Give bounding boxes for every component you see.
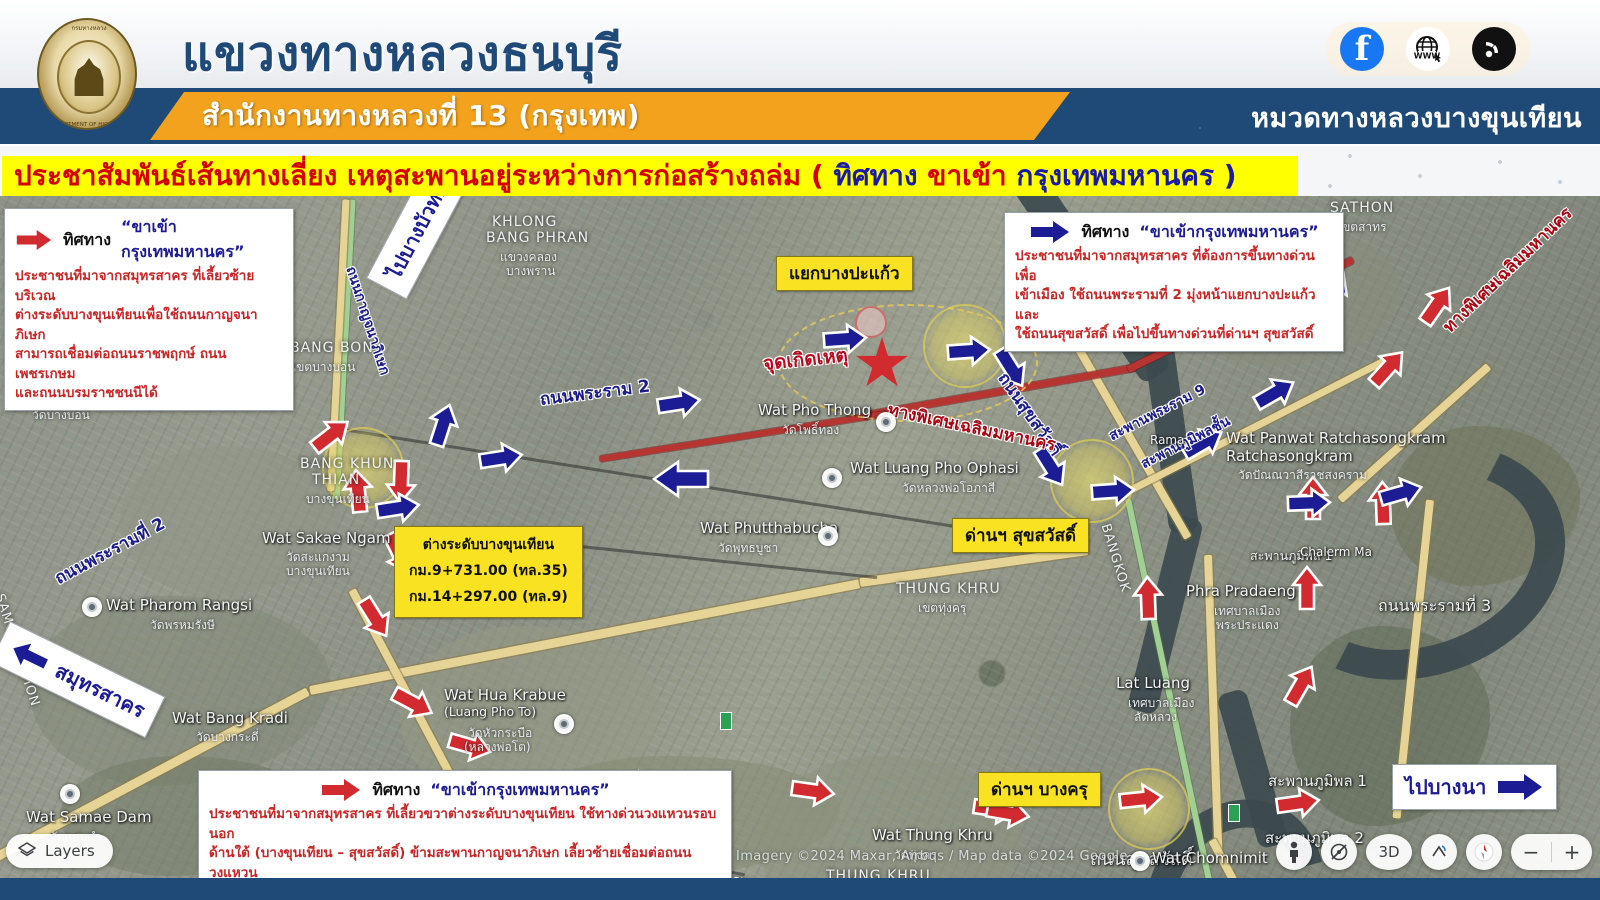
place-label-wat-luang-pho-ophasi: Wat Luang Pho Ophasi [850,459,1019,477]
announcement-part3: ขาเข้า [918,159,1017,192]
callout-tl-line-4: และถนนบรมราชชนนีได้ [15,384,283,404]
compass-icon[interactable] [1466,834,1502,870]
label-bangpakaew: แยกบางปะแก้ว [776,256,913,291]
blue-arrow-icon [5,635,53,678]
office-title: สำนักงานทางหลวงที่ 13 (กรุงเทพ) [202,94,640,138]
arrow-blue [1247,367,1304,419]
district-bang-bon: BANG BON [290,340,374,356]
zoom-out-button[interactable]: − [1511,840,1551,864]
announcement-part2: ทิศทาง [833,159,917,192]
place-label-wat-luang-pho-ophasi-th: วัดหลวงพ่อโอภาสี [902,479,995,498]
interchange-title: ต่างระดับบางขุนเทียน [409,533,568,559]
direction-banner-bangna-text: ไปบางนา [1405,771,1486,803]
poi-marker[interactable] [60,784,80,804]
callout-top-left: ทิศทาง “ขาเข้ากรุงเทพมหานคร” ประชาชนที่ม… [4,208,294,411]
arrow-blue-left-big [652,458,710,500]
callout-tr-quoted: “ขาเข้ากรุงเทพมหานคร” [1139,220,1318,245]
arrow-red [1116,780,1165,819]
layers-icon [18,842,36,860]
arrow-red [1130,574,1166,621]
district-khlong-bang-phran-th2: บางพราน [506,262,556,281]
footer-bar [0,878,1600,900]
arrow-blue [821,320,869,357]
callout-b-line-1: ประชาชนที่มาจากสมุทรสาคร ที่เลี้ยวขวาต่า… [209,805,721,844]
district-khlong-bang-phran: KHLONG [492,214,557,230]
district-khlong-bang-phran-th: แขวงคลอง [500,248,557,267]
arrow-blue [1285,485,1332,521]
route-cap-bangkok: BANGKOK [1098,522,1133,594]
callout-bottom: ทิศทาง “ขาเข้ากรุงเทพมหานคร” ประชาชนที่ม… [198,770,732,878]
poi-marker[interactable] [82,597,102,617]
direction-banner-bangbuathong-text: ไปบางบัวทอง [378,196,460,285]
expressway-chaloem-west [600,411,887,462]
arrow-red [1360,340,1416,397]
arrow-blue [1089,472,1137,509]
callout-tr-line-3: ใช้ถนนสุขสวัสดิ์ เพื่อไปขึ้นทางด่วนที่ด่… [1015,325,1333,345]
arrow-blue [420,398,467,452]
poi-marker[interactable] [818,526,838,546]
poi-marker[interactable] [822,468,842,488]
page-title: แขวงทางหลวงธนบุรี [182,16,623,92]
announcement-part4: กรุงเทพมหานคร ) [1016,159,1236,192]
direction-banner-bangna: ไปบางนา [1392,764,1557,810]
announcement-text: ประชาสัมพันธ์เส้นทางเลี่ยง เหตุสะพานอยู่… [14,154,1237,198]
blue-arrow-icon [1029,219,1071,245]
label-toll-suksawat: ด่านฯ สุขสวัสดิ์ [952,518,1089,553]
callout-tr-line-1: ประชาชนที่มาจากสมุทรสาคร ที่ต้องการขึ้นท… [1015,247,1333,286]
map-attribution: Imagery ©2024 Maxar, Airbus / Map data ©… [736,849,1128,864]
road-label-rama2-mid: ถนนพระราม 2 [538,373,651,413]
poi-marker[interactable] [1130,851,1150,871]
zoom-in-button[interactable]: + [1552,840,1592,864]
place-label-phra-pradaeng-th: เทศบาลเมือง [1214,602,1280,621]
doh-logo: กรมทางหลวง DEPARTMENT OF HIGHWAYS [28,6,146,142]
callout-tl-line-2: ต่างระดับบางขุนเทียนเพื่อใช้ถนนกาญจนาภิเ… [15,306,283,345]
facebook-icon[interactable]: f [1340,27,1384,71]
arrow-red [1273,783,1323,823]
layers-button[interactable]: Layers [6,834,113,868]
announcement-banner: ประชาสัมพันธ์เส้นทางเลี่ยง เหตุสะพานอยู่… [0,146,1600,196]
announcement-part1: ประชาสัมพันธ์เส้นทางเลี่ยง เหตุสะพานอยู่… [14,159,833,192]
red-arrow-icon [320,777,362,803]
logo-ring-top-text: กรมทางหลวง [72,23,107,33]
callout-b-quoted: “ขาเข้ากรุงเทพมหานคร” [430,778,609,803]
district-thung-khru-th: เขตทุ่งครุ [918,599,966,618]
callout-tr-prefix: ทิศทาง [1081,220,1129,245]
callout-tl-quoted: “ขาเข้ากรุงเทพมหานคร” [121,215,283,265]
website-icon[interactable]: WWW [1406,27,1450,71]
arrow-blue [373,488,424,529]
callout-tr-line-2: เข้าเมือง ใช้ถนนพระรามที่ 2 มุ่งหน้าแยกบ… [1015,286,1333,325]
callout-b-line-2: ด้านใต้ (บางขุนเทียน – สุขสวัสดิ์) ข้ามส… [209,844,721,878]
arrow-red [1290,565,1324,611]
arrow-blue [945,332,993,369]
poster-page: กรมทางหลวง DEPARTMENT OF HIGHWAYS แขวงทา… [0,0,1600,900]
red-arrow-icon [15,227,53,253]
highway-sign-marker [1228,804,1240,822]
map-controls: 3D − + [1276,834,1592,870]
callout-top-right: ทิศทาง “ขาเข้ากรุงเทพมหานคร” ประชาชนที่ม… [1004,212,1344,352]
three-d-toggle[interactable]: 3D [1366,834,1412,870]
direction-banner-bangbuathong: ไปบางบัวทอง [366,196,496,300]
poi-marker[interactable] [876,412,896,432]
arrow-red [788,771,838,811]
place-label-wat-panwat-2: Ratchasongkram [1226,447,1353,465]
interchange-km-1: กม.9+731.00 (ทล.35) [409,559,568,585]
office-ribbon: สำนักงานทางหลวงที่ 13 (กรุงเทพ) [150,92,1070,140]
logo-ring-bottom-text: DEPARTMENT OF HIGHWAYS [50,122,127,128]
callout-b-prefix: ทิศทาง [372,778,420,803]
road-label-chaloem-2: ทางพิเศษเฉลิมมหานคร [1437,201,1579,339]
pegman-icon[interactable] [1276,834,1312,870]
satellite-map[interactable]: จุดเกิดเหตุ [0,196,1600,878]
place-label-wat-phutthabucha-th: วัดพุทธบูชา [718,539,778,558]
compass-off-icon[interactable] [1321,834,1357,870]
district-thung-khru: THUNG KHRU [896,581,1001,597]
layers-label: Layers [45,842,95,860]
label-toll-bangkhru: ด่านฯ บางครุ [978,772,1101,807]
social-links: f WWW [1326,22,1530,76]
callout-tl-prefix: ทิศทาง [63,228,111,253]
callout-tl-line-3: สามารถเชื่อมต่อถนนราชพฤกษ์ ถนนเพชรเกษม [15,345,283,384]
zoom-controls[interactable]: − + [1511,834,1592,870]
district-sathon-th: เขตสาทร [1338,218,1387,237]
interchange-km-2: กม.14+297.00 (ทล.9) [409,585,568,611]
section-title: หมวดทางหลวงบางขุนเทียน [1251,96,1582,139]
arrow-blue [654,383,705,424]
arrow-blue [476,438,527,479]
blue-arrow-icon [1496,771,1544,803]
tilt-icon[interactable] [1421,834,1457,870]
telephone-icon[interactable] [1472,27,1516,71]
poi-marker[interactable] [554,714,574,734]
district-khlong-bang-phran-2: BANG PHRAN [486,230,589,246]
arrow-red [339,466,378,515]
place-label-phra-pradaeng-th2: พระประแดง [1216,616,1279,635]
highway-sign-marker [720,712,732,730]
callout-tl-line-1: ประชาชนที่มาจากสมุทรสาคร ที่เลี้ยวซ้ายบร… [15,267,283,306]
interchange-info-box: ต่างระดับบางขุนเทียน กม.9+731.00 (ทล.35)… [394,526,583,618]
